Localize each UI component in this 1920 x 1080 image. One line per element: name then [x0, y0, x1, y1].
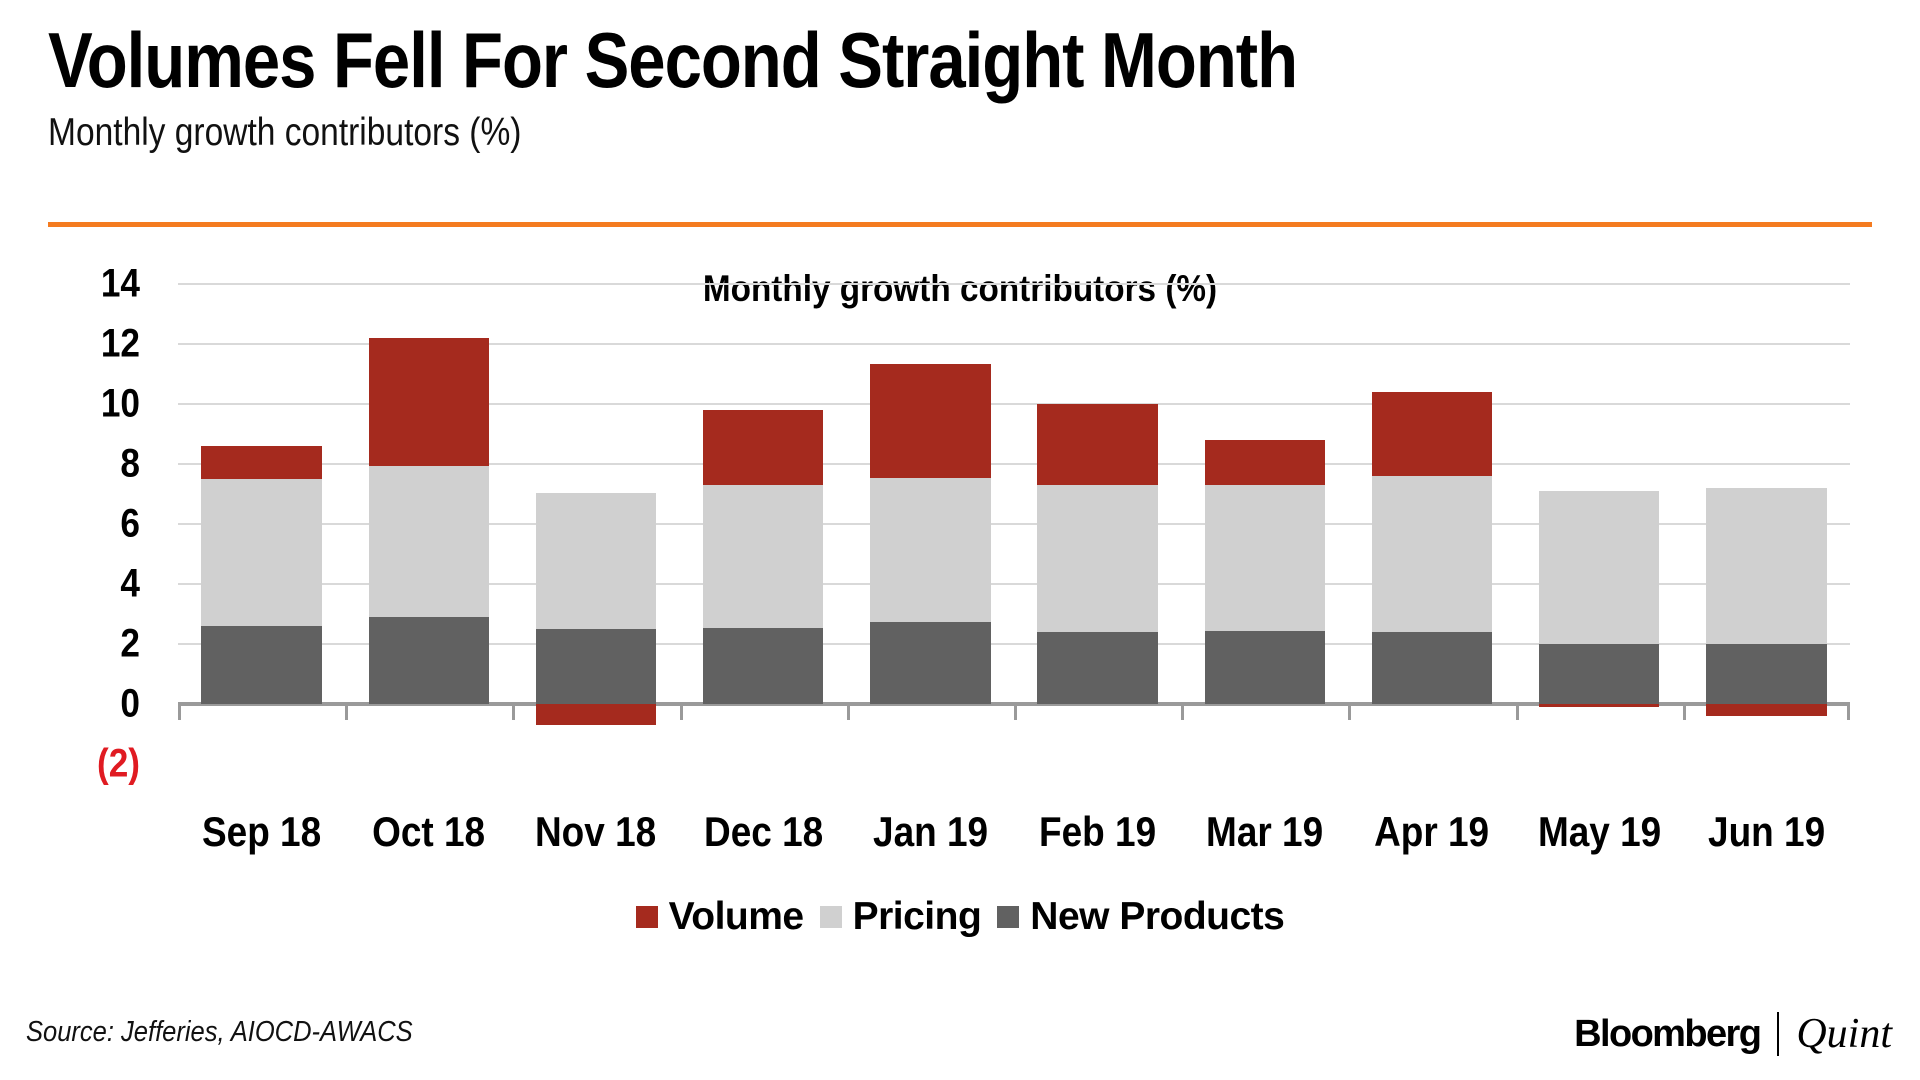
chart-bar-segment[interactable] [1205, 485, 1325, 631]
chart-y-tick-label: 2 [34, 622, 140, 667]
chart-x-axis-label: Oct 18 [355, 808, 502, 856]
chart-x-tick-mark [512, 704, 515, 720]
source-note: Source: Jefferies, AIOCD-AWACS [26, 1016, 413, 1049]
legend-swatch-icon [820, 906, 842, 928]
chart-y-tick-label: 6 [34, 502, 140, 547]
legend-item[interactable]: Volume [636, 895, 804, 939]
chart-x-tick-mark [1516, 704, 1519, 720]
chart-x-axis-label: Feb 19 [1024, 808, 1171, 856]
chart-bar-segment[interactable] [870, 478, 990, 622]
chart-bar-segment[interactable] [870, 622, 990, 705]
chart-bar-group[interactable] [512, 284, 679, 764]
chart-bar-segment[interactable] [369, 466, 489, 618]
chart-bar-segment[interactable] [703, 485, 823, 628]
legend-label: New Products [1030, 895, 1284, 939]
legend-label: Volume [669, 895, 804, 939]
chart-bar-segment[interactable] [536, 704, 656, 725]
chart-x-axis-label: Nov 18 [522, 808, 669, 856]
chart-x-axis-label: Dec 18 [690, 808, 837, 856]
chart-bar-segment[interactable] [1372, 392, 1492, 476]
legend-swatch-icon [997, 906, 1019, 928]
chart-bar-group[interactable] [345, 284, 512, 764]
chart-bar-segment[interactable] [703, 410, 823, 485]
chart-x-tick-mark [1348, 704, 1351, 720]
chart-bar-group[interactable] [680, 284, 847, 764]
logo-quint-text: Quint [1796, 1010, 1892, 1058]
chart-x-tick-mark [847, 704, 850, 720]
chart-bar-segment[interactable] [369, 617, 489, 704]
chart-x-tick-mark [680, 704, 683, 720]
chart-bar-segment[interactable] [1205, 440, 1325, 485]
header: Volumes Fell For Second Straight Month M… [48, 22, 1878, 155]
chart-bar-group[interactable] [1516, 284, 1683, 764]
page-subtitle: Monthly growth contributors (%) [48, 112, 1622, 155]
chart-bar-group[interactable] [1181, 284, 1348, 764]
chart-x-axis-label: Jun 19 [1693, 808, 1840, 856]
chart-y-tick-label: 14 [34, 262, 140, 307]
chart-bar-segment[interactable] [1372, 476, 1492, 632]
chart-bar-segment[interactable] [536, 493, 656, 630]
chart-bar-segment[interactable] [536, 629, 656, 704]
chart-bar-segment[interactable] [1037, 632, 1157, 704]
chart-bar-segment[interactable] [1037, 485, 1157, 632]
chart-y-tick-label: (2) [34, 742, 140, 787]
chart-bar-segment[interactable] [703, 628, 823, 705]
chart-x-axis-label: Sep 18 [188, 808, 335, 856]
chart-legend: VolumePricingNew Products [48, 895, 1872, 939]
chart-container: Monthly growth contributors (%) 14121086… [48, 250, 1872, 950]
chart-y-tick-label: 12 [34, 322, 140, 367]
chart-x-axis-label: May 19 [1526, 808, 1673, 856]
chart-bar-segment[interactable] [1706, 644, 1826, 704]
chart-bar-segment[interactable] [369, 338, 489, 466]
legend-item[interactable]: Pricing [820, 895, 982, 939]
chart-bar-segment[interactable] [1706, 704, 1826, 716]
chart-bar-segment[interactable] [1539, 491, 1659, 644]
chart-bar-group[interactable] [1348, 284, 1515, 764]
chart-bar-group[interactable] [178, 284, 345, 764]
chart-x-tick-mark [345, 704, 348, 720]
chart-bar-segment[interactable] [201, 446, 321, 479]
chart-x-axis-label: Apr 19 [1358, 808, 1505, 856]
chart-bar-segment[interactable] [1205, 631, 1325, 705]
chart-bar-group[interactable] [1683, 284, 1850, 764]
header-divider [48, 222, 1872, 227]
chart-bar-segment[interactable] [1539, 704, 1659, 707]
chart-bar-segment[interactable] [201, 626, 321, 704]
page-title: Volumes Fell For Second Straight Month [48, 22, 1622, 98]
chart-x-tick-mark [1683, 704, 1686, 720]
chart-x-tick-mark [1181, 704, 1184, 720]
legend-swatch-icon [636, 906, 658, 928]
chart-bar-segment[interactable] [1706, 488, 1826, 644]
legend-label: Pricing [853, 895, 982, 939]
chart-y-tick-label: 0 [34, 682, 140, 727]
chart-bar-segment[interactable] [1372, 632, 1492, 704]
chart-x-tick-mark [178, 704, 181, 720]
chart-bar-segment[interactable] [1037, 404, 1157, 485]
chart-y-tick-label: 8 [34, 442, 140, 487]
chart-y-tick-label: 10 [34, 382, 140, 427]
chart-x-tick-mark [1847, 704, 1850, 720]
logo-divider [1777, 1012, 1779, 1056]
chart-x-axis-labels: Sep 18Oct 18Nov 18Dec 18Jan 19Feb 19Mar … [178, 808, 1850, 864]
legend-item[interactable]: New Products [997, 895, 1284, 939]
chart-y-tick-label: 4 [34, 562, 140, 607]
chart-plot-area: 14121086420(2) [178, 284, 1850, 764]
chart-x-axis-label: Mar 19 [1191, 808, 1338, 856]
chart-bar-segment[interactable] [201, 479, 321, 626]
chart-bar-segment[interactable] [1539, 644, 1659, 704]
brand-logo: Bloomberg Quint [1574, 1010, 1892, 1058]
chart-x-axis-label: Jan 19 [857, 808, 1004, 856]
chart-bar-group[interactable] [1014, 284, 1181, 764]
chart-bar-segment[interactable] [870, 364, 990, 478]
logo-bloomberg-text: Bloomberg [1574, 1013, 1760, 1056]
chart-bar-group[interactable] [847, 284, 1014, 764]
chart-x-tick-mark [1014, 704, 1017, 720]
